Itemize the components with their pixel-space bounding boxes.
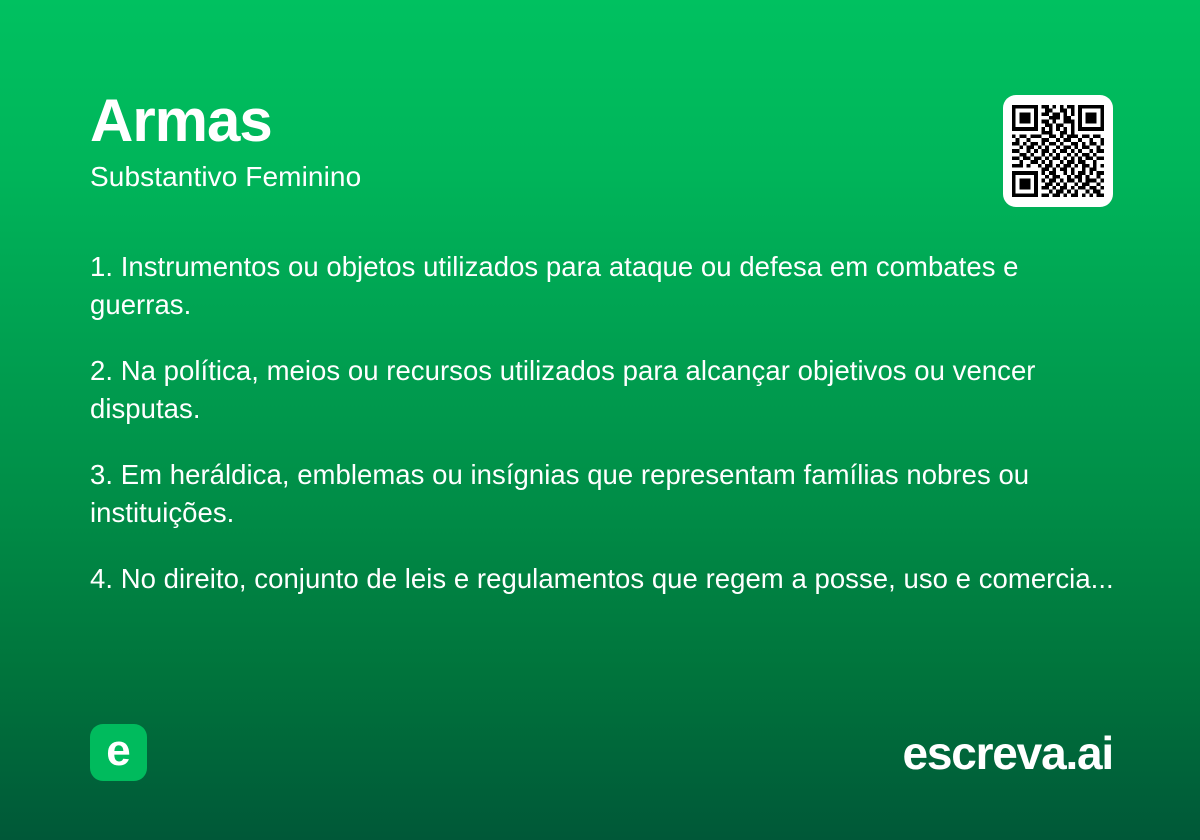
word-class-label: Substantivo Feminino xyxy=(90,162,930,192)
page-title: Armas xyxy=(90,92,930,150)
qr-code-graphic xyxy=(1012,104,1104,198)
qr-code-icon[interactable] xyxy=(1003,95,1113,207)
list-item: 1. Instrumentos ou objetos utilizados pa… xyxy=(90,248,1120,324)
definition-list: 1. Instrumentos ou objetos utilizados pa… xyxy=(90,248,1120,598)
dictionary-card: Armas Substantivo Feminino 1. Instrument… xyxy=(0,0,1200,840)
brand-logo-icon[interactable]: e xyxy=(90,724,147,781)
card-header: Armas Substantivo Feminino xyxy=(90,92,930,192)
list-item: 3. Em heráldica, emblemas ou insígnias q… xyxy=(90,456,1125,532)
list-item: 2. Na política, meios ou recursos utiliz… xyxy=(90,352,1120,428)
list-item: 4. No direito, conjunto de leis e regula… xyxy=(90,560,1130,598)
brand-logo-letter: e xyxy=(106,729,130,773)
brand-wordmark: escreva.ai xyxy=(902,727,1113,779)
